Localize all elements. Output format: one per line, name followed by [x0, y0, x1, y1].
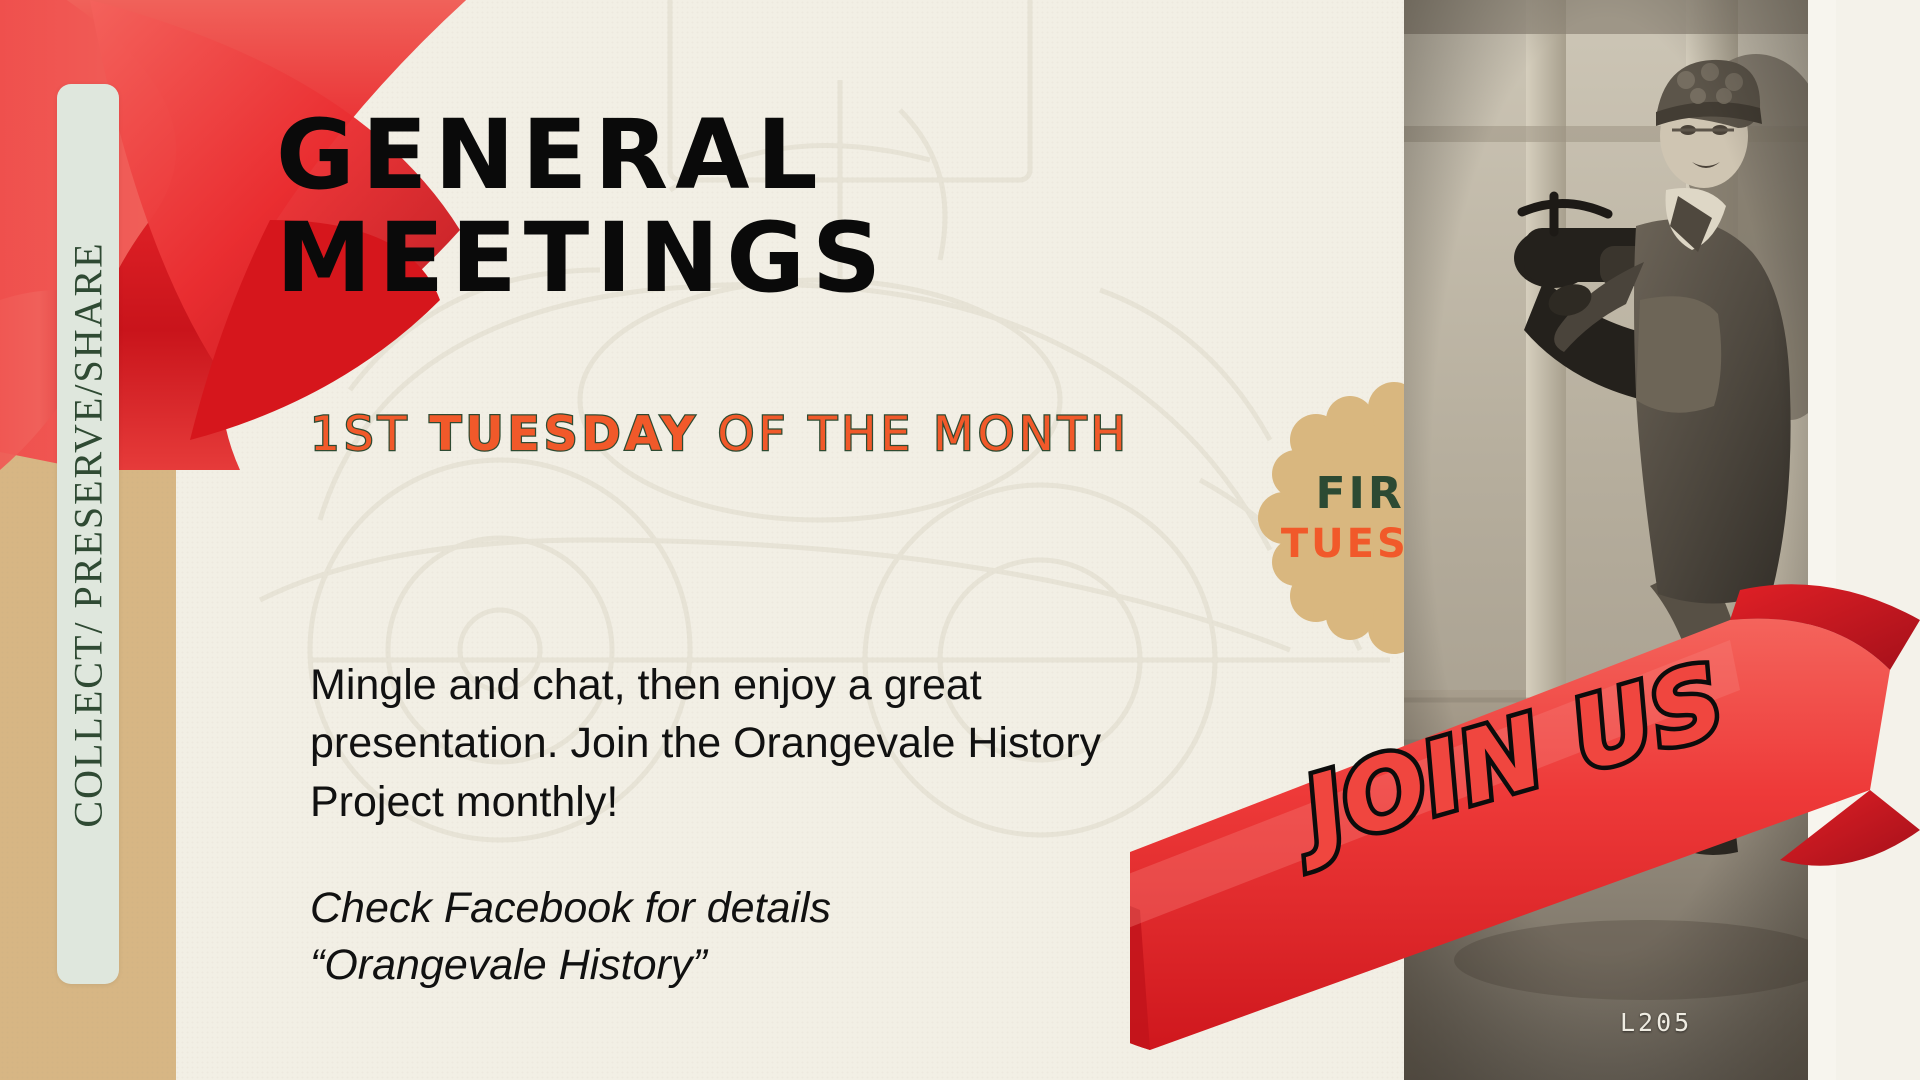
vintage-photo: [1404, 0, 1808, 1080]
subhead-part-3: OF THE MONTH: [699, 407, 1130, 462]
facebook-note: Check Facebook for details “Orangevale H…: [310, 880, 1170, 994]
headline-line-1: GENERAL: [276, 104, 1216, 207]
tagline-tab: COLLECT/ PRESERVE/SHARE: [57, 84, 119, 984]
photo-caption: L205: [1620, 1008, 1692, 1037]
facebook-note-line-2: “Orangevale History”: [310, 937, 1170, 994]
subhead-part-2-bold: TUESDAY: [429, 407, 698, 462]
facebook-note-line-1: Check Facebook for details: [310, 880, 1170, 937]
description-paragraph: Mingle and chat, then enjoy a great pres…: [310, 656, 1170, 831]
right-edge-strip: [1836, 0, 1920, 1080]
tagline-text: COLLECT/ PRESERVE/SHARE: [65, 241, 112, 827]
meeting-schedule-subheading: 1ST TUESDAY OF THE MONTH: [310, 406, 1130, 464]
event-flyer: COLLECT/ PRESERVE/SHARE GENERAL MEETINGS…: [0, 0, 1920, 1080]
page-title: GENERAL MEETINGS: [276, 104, 1216, 309]
headline-line-2: MEETINGS: [276, 207, 1216, 310]
subhead-part-1: 1ST: [310, 407, 429, 462]
